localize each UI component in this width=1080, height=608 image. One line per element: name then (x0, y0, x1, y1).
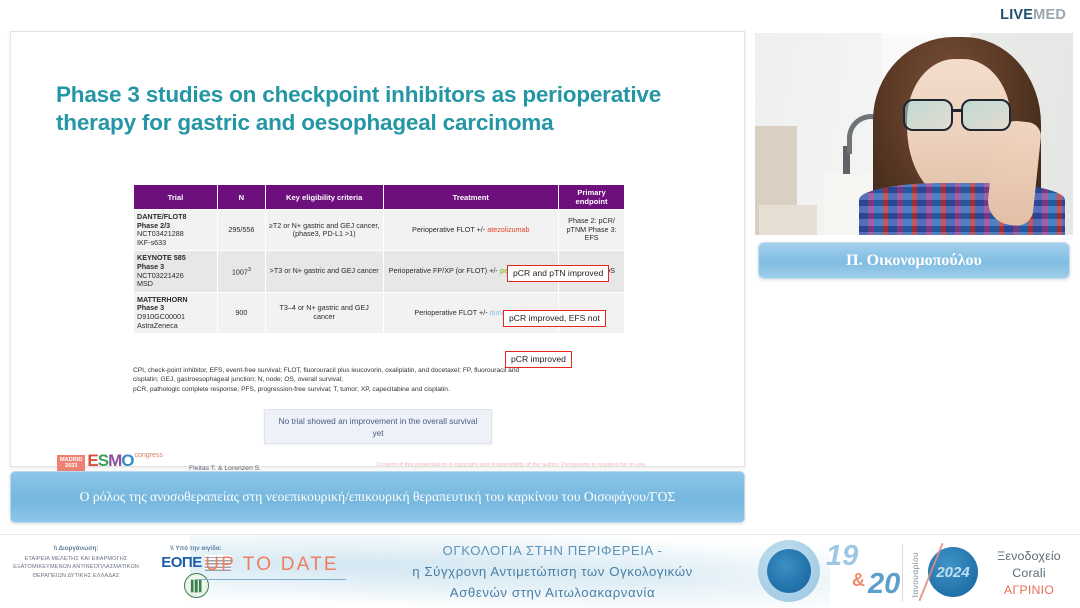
cell-trial: DANTE/FLOT8 Phase 2/3 NCT03421288 IKF-s6… (134, 210, 218, 251)
esmo-wordmark: ESMO (87, 452, 133, 469)
event-date-ampersand: & (852, 570, 865, 591)
annotation-box-2: pCR improved, EFS not (503, 310, 606, 327)
date-separator (902, 544, 903, 602)
treatment-regimen: Perioperative FLOT +/- (414, 308, 489, 317)
event-venue: Ξενοδοχείο Corali ΑΓΡΙΝΙΟ (982, 548, 1076, 599)
livemed-logo-secondary: MED (1033, 7, 1066, 23)
app-root: LIVEMED Phase 3 studies on checkpoint in… (0, 0, 1080, 608)
speaker-name: Π. Οικονομοπούλου (846, 252, 982, 270)
eyeglasses-icon (903, 99, 1017, 131)
event-date-day-1: 19 (826, 540, 858, 573)
footnote-line-3: pCR, pathologic complete response; PFS, … (133, 385, 633, 394)
event-title-line-1: ΟΓΚΟΛΟΓΙΑ ΣΤΗΝ ΠΕΡΙΦΕΡΕΙΑ - (350, 540, 755, 561)
speaker-name-plate: Π. Οικονομοπούλου (758, 242, 1070, 279)
cell-n: 295/556 (217, 210, 265, 251)
event-dates: 19 & 20 Ιανουαρίου (820, 538, 930, 606)
slide-title: Phase 3 studies on checkpoint inhibitors… (56, 81, 706, 137)
presentation-slide[interactable]: Phase 3 studies on checkpoint inhibitors… (10, 31, 745, 467)
cell-endpoint: Phase 2: pCR/ pTNM Phase 3: EFS (559, 210, 625, 251)
cell-eligibility: T3–4 or N+ gastric and GEJ cancer (265, 292, 383, 333)
organizer-label: \\ Διοργάνωση: (12, 545, 140, 552)
series-brand: UP TO DATE (198, 554, 346, 580)
trial-sponsor: IKF-s633 (137, 238, 166, 247)
column-header-endpoint: Primary endpoint (559, 185, 625, 210)
top-bar: LIVEMED (0, 0, 1080, 31)
treatment-regimen: Perioperative FLOT +/- (412, 225, 487, 234)
event-title-line-2: η Σύγχρονη Αντιμετώπιση των Ογκολογικών (350, 561, 755, 582)
cell-eligibility: >T3 or N+ gastric and GEJ cancer (265, 251, 383, 292)
footnote-line-2: cisplatin; GEJ, gastroesophageal junctio… (133, 375, 633, 384)
column-header-trial: Trial (134, 185, 218, 210)
esmo-location-badge: MADRID 2023 (57, 455, 85, 472)
trial-sponsor: AstraZeneca (137, 321, 178, 330)
eyeglasses-right-lens (961, 99, 1011, 131)
venue-label: Ξενοδοχείο (982, 548, 1076, 565)
column-header-n: N (217, 185, 265, 210)
table-row: DANTE/FLOT8 Phase 2/3 NCT03421288 IKF-s6… (134, 210, 625, 251)
eope-wordmark: ΕΟΠΕ (161, 554, 202, 571)
globe-inner-sphere (767, 549, 811, 593)
cell-trial: KEYNOTE 585 Phase 3 NCT03221426 MSD (134, 251, 218, 292)
cardboard-box-secondary (759, 205, 817, 235)
treatment-drug: atezolizumab (487, 225, 529, 234)
organizer-name: ΕΤΑΙΡΕΙΑ ΜΕΛΕΤΗΣ ΚΑΙ ΕΦΑΡΜΟΓΗΣ ΕΞΑΤΟΜΙΚΕ… (12, 555, 140, 580)
event-date-day-2: 20 (868, 568, 900, 601)
esmo-congress-logo: MADRID 2023 ESMO congress (57, 452, 163, 472)
event-title-line-3: Ασθενών στην Αιτωλοακαρνανία (350, 582, 755, 603)
annotation-box-1: pCR and pTN improved (507, 265, 609, 282)
cell-n: 10073 (217, 251, 265, 292)
event-year: 2024 (936, 564, 969, 581)
series-title: UP TO DATE (198, 554, 346, 576)
trial-sponsor: MSD (137, 279, 153, 288)
event-date-month: Ιανουαρίου (910, 552, 920, 597)
speaker-video-feed[interactable] (755, 33, 1073, 235)
session-title-bar: Ο ρόλος της ανοσοθεραπείας στη νεοεπικου… (10, 471, 745, 523)
n-value: 1007 (232, 267, 248, 276)
table-header-row: Trial N Key eligibility criteria Treatme… (134, 185, 625, 210)
cell-trial: MATTERHORN Phase 3 D910GC00001 AstraZene… (134, 292, 218, 333)
n-footnote-marker: 3 (248, 267, 251, 273)
column-header-eligibility: Key eligibility criteria (265, 185, 383, 210)
cell-treatment: Perioperative FLOT +/- atezolizumab (383, 210, 559, 251)
esmo-year: 2023 (60, 463, 82, 469)
globe-icon (758, 540, 820, 602)
event-year-badge: 2024 (928, 547, 978, 597)
livemed-logo: LIVEMED (1000, 7, 1066, 23)
eyeglasses-left-lens (903, 99, 953, 131)
esmo-congress-word: congress (134, 452, 162, 459)
cell-n: 900 (217, 292, 265, 333)
series-underline (198, 579, 346, 580)
table-footnote: CPI, check-point inhibitor, EFS, event-f… (133, 366, 633, 394)
venue-city: ΑΓΡΙΝΙΟ (982, 582, 1076, 599)
aegis-label: \\ Υπό την αιγίδα: (142, 545, 250, 552)
cell-eligibility: ≥T2 or N+ gastric and GEJ cancer, (phase… (265, 210, 383, 251)
treatment-regimen: Perioperative FP/XP (or FLOT) +/- (389, 266, 500, 275)
organizer-block: \\ Διοργάνωση: ΕΤΑΙΡΕΙΑ ΜΕΛΕΤΗΣ ΚΑΙ ΕΦΑΡ… (12, 545, 140, 580)
column-header-treatment: Treatment (383, 185, 559, 210)
conclusion-callout: No trial showed an improvement in the ov… (264, 409, 492, 444)
slide-copyright: Content of this presentation is copyrigh… (376, 462, 647, 468)
livemed-logo-primary: LIVE (1000, 7, 1033, 23)
footnote-line-1: CPI, check-point inhibitor, EFS, event-f… (133, 366, 633, 375)
event-title: ΟΓΚΟΛΟΓΙΑ ΣΤΗΝ ΠΕΡΙΦΕΡΕΙΑ - η Σύγχρονη Α… (350, 540, 755, 603)
venue-name: Corali (982, 565, 1076, 582)
